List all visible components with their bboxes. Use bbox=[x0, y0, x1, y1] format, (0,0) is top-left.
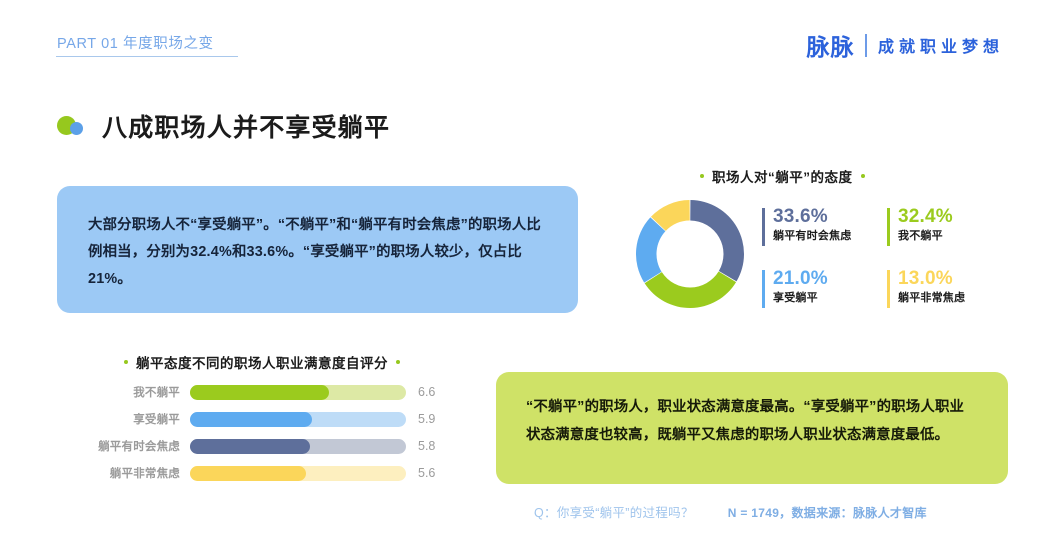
bar-category-label: 躺平有时会焦虑 bbox=[60, 438, 190, 454]
brand-slogan: 成就职业梦想 bbox=[878, 33, 1004, 57]
legend-color-bar bbox=[762, 270, 765, 308]
callout-blue: 大部分职场人不“享受躺平”。“不躺平”和“躺平有时会焦虑”的职场人比例相当，分别… bbox=[57, 186, 578, 313]
donut-legend: 33.6% 躺平有时会焦虑 32.4% 我不躺平 21.0% 享受躺平 13.0… bbox=[762, 206, 1012, 330]
donut-chart bbox=[636, 200, 744, 308]
bar-fill bbox=[190, 385, 329, 400]
part-label-underline bbox=[56, 56, 238, 57]
legend-label: 躺平有时会焦虑 bbox=[773, 228, 887, 244]
brand-logo: 脉脉 成就职业梦想 bbox=[806, 28, 1004, 62]
bar-row: 享受躺平 5.9 bbox=[60, 410, 445, 428]
bar-value-label: 6.6 bbox=[406, 385, 460, 399]
brand-divider bbox=[865, 34, 867, 57]
bar-track bbox=[190, 439, 406, 454]
bar-row: 躺平非常焦虑 5.6 bbox=[60, 464, 445, 482]
bar-fill bbox=[190, 412, 312, 427]
footer-sample-source: N = 1749，数据来源：脉脉人才智库 bbox=[728, 504, 927, 521]
footer-question: Q：你享受“躺平”的过程吗？ bbox=[534, 502, 694, 521]
legend-item: 21.0% 享受躺平 bbox=[762, 268, 887, 306]
legend-color-bar bbox=[887, 270, 890, 308]
donut-slice bbox=[645, 271, 736, 308]
page-title-text: 八成职场人并不享受躺平 bbox=[102, 108, 390, 144]
callout-green-text: “不躺平”的职场人，职业状态满意度最高。“享受躺平”的职场人职业状态满意度也较高… bbox=[526, 393, 978, 449]
callout-green: “不躺平”的职场人，职业状态满意度最高。“享受躺平”的职场人职业状态满意度也较高… bbox=[496, 372, 1008, 484]
bullet-dot-icon bbox=[396, 360, 400, 364]
donut-chart-title: 职场人对“躺平”的态度 bbox=[700, 166, 865, 186]
bar-category-label: 享受躺平 bbox=[60, 411, 190, 427]
legend-label: 我不躺平 bbox=[898, 228, 1012, 244]
bar-category-label: 我不躺平 bbox=[60, 384, 190, 400]
bar-chart: 我不躺平 6.6 享受躺平 5.9 躺平有时会焦虑 5.8 躺平非常焦虑 5.6 bbox=[60, 383, 445, 491]
part-label: PART 01 年度职场之变 bbox=[57, 32, 214, 53]
bar-row: 躺平有时会焦虑 5.8 bbox=[60, 437, 445, 455]
bar-track bbox=[190, 466, 406, 481]
page-title: 八成职场人并不享受躺平 bbox=[57, 108, 390, 144]
bullet-dot-icon bbox=[700, 174, 704, 178]
bar-chart-title-text: 躺平态度不同的职场人职业满意度自评分 bbox=[136, 352, 388, 372]
legend-value: 13.0% bbox=[898, 268, 1012, 290]
donut-slice bbox=[690, 200, 744, 281]
donut-chart-title-text: 职场人对“躺平”的态度 bbox=[712, 166, 853, 186]
callout-blue-text: 大部分职场人不“享受躺平”。“不躺平”和“躺平有时会焦虑”的职场人比例相当，分别… bbox=[88, 212, 547, 293]
bar-value-label: 5.9 bbox=[406, 412, 460, 426]
bar-row: 我不躺平 6.6 bbox=[60, 383, 445, 401]
bullet-dot-icon bbox=[124, 360, 128, 364]
bar-track bbox=[190, 412, 406, 427]
legend-color-bar bbox=[887, 208, 890, 246]
slide-root: PART 01 年度职场之变 脉脉 成就职业梦想 八成职场人并不享受躺平 大部分… bbox=[0, 0, 1048, 540]
bar-chart-title: 躺平态度不同的职场人职业满意度自评分 bbox=[124, 352, 400, 372]
legend-item: 33.6% 躺平有时会焦虑 bbox=[762, 206, 887, 244]
legend-color-bar bbox=[762, 208, 765, 246]
legend-value: 32.4% bbox=[898, 206, 1012, 228]
bar-category-label: 躺平非常焦虑 bbox=[60, 465, 190, 481]
legend-item: 32.4% 我不躺平 bbox=[887, 206, 1012, 244]
bullet-dot-icon bbox=[861, 174, 865, 178]
bar-fill bbox=[190, 439, 310, 454]
legend-value: 21.0% bbox=[773, 268, 887, 290]
bar-value-label: 5.8 bbox=[406, 439, 460, 453]
donut-chart-svg bbox=[636, 200, 744, 308]
footer: Q：你享受“躺平”的过程吗？ N = 1749，数据来源：脉脉人才智库 bbox=[534, 502, 927, 521]
legend-label: 享受躺平 bbox=[773, 290, 887, 306]
legend-item: 13.0% 躺平非常焦虑 bbox=[887, 268, 1012, 306]
bubble-dots-icon bbox=[57, 115, 91, 137]
bar-value-label: 5.6 bbox=[406, 466, 460, 480]
bar-track bbox=[190, 385, 406, 400]
legend-value: 33.6% bbox=[773, 206, 887, 228]
bar-fill bbox=[190, 466, 306, 481]
legend-label: 躺平非常焦虑 bbox=[898, 290, 1012, 306]
brand-name: 脉脉 bbox=[806, 28, 854, 62]
